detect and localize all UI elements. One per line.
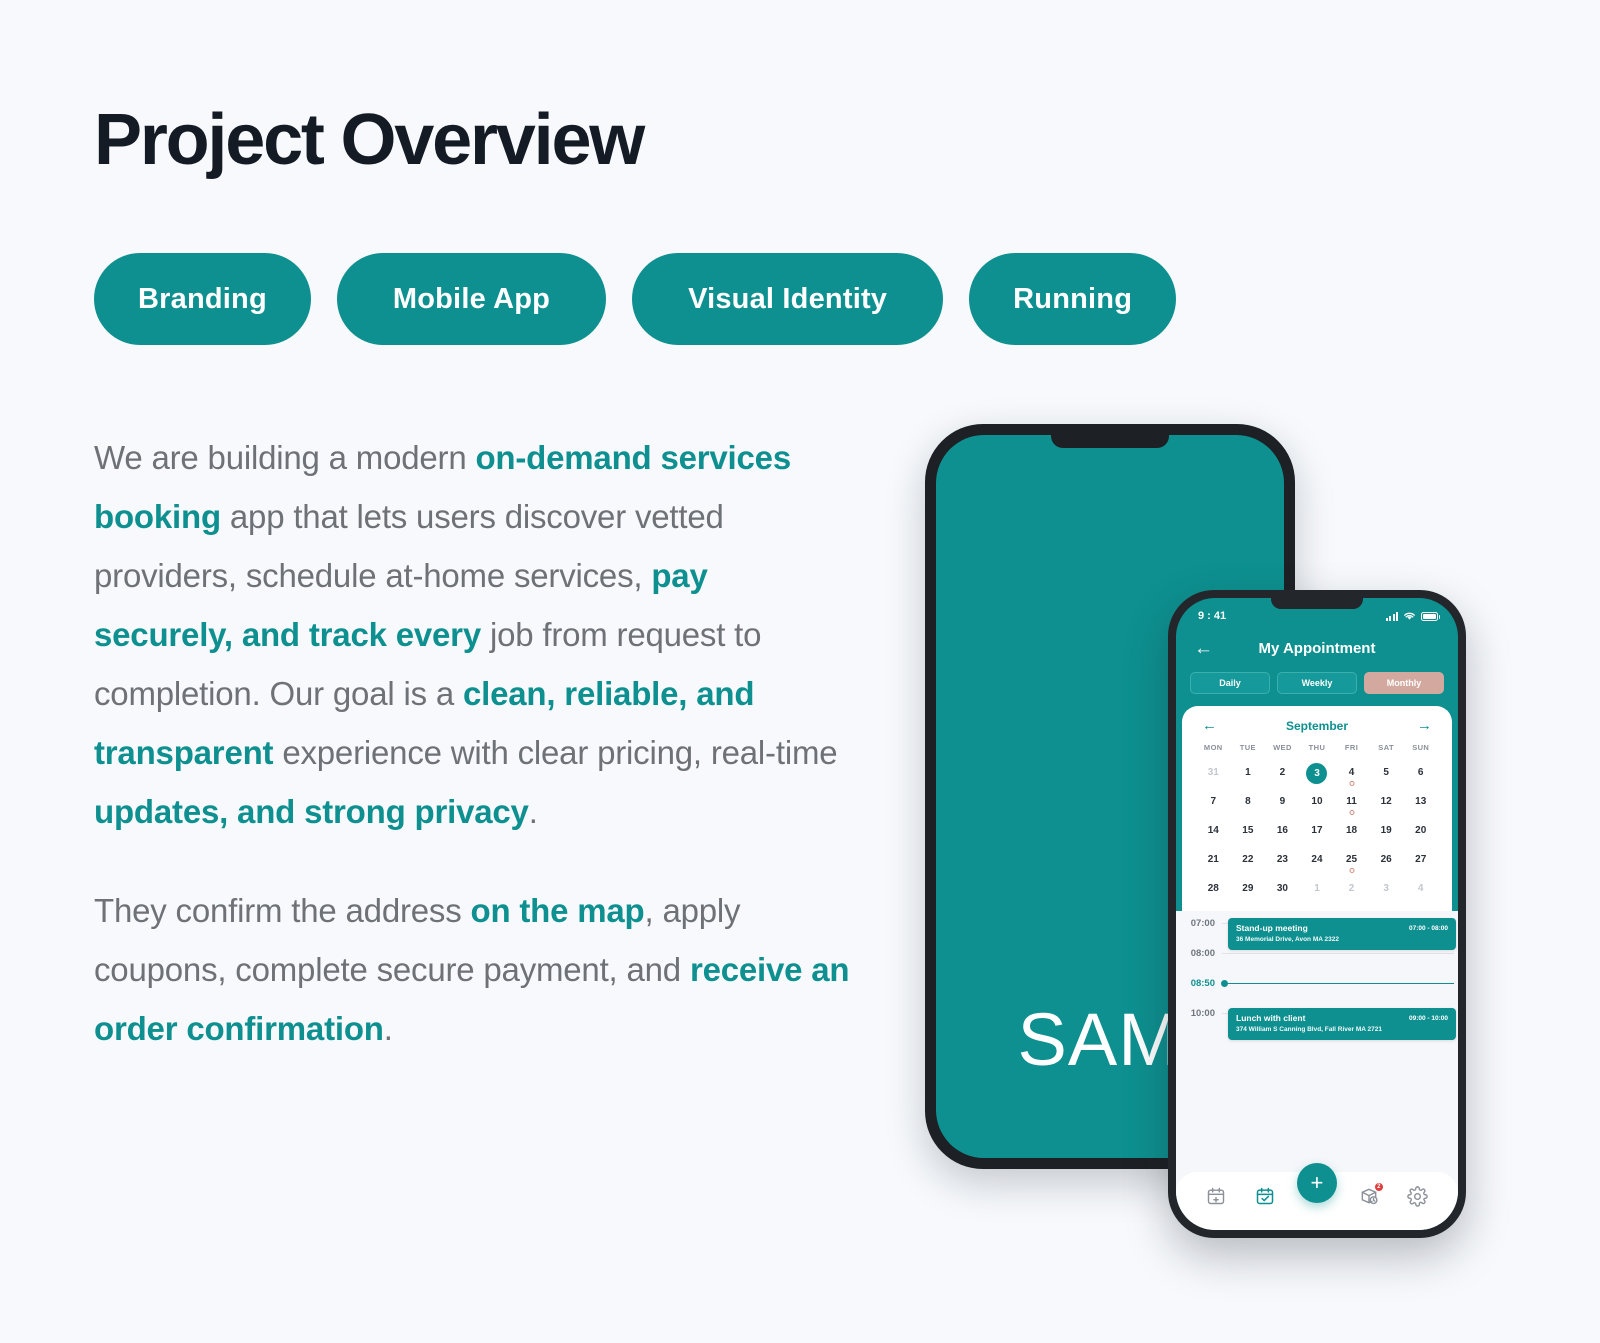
event-title: Stand-up meeting — [1236, 923, 1308, 933]
calendar-day-number: 4 — [1349, 767, 1355, 778]
wifi-icon — [1403, 611, 1416, 621]
body-copy: We are building a modern on-demand servi… — [94, 428, 854, 1058]
tag-pill-row: Branding Mobile App Visual Identity Runn… — [94, 253, 1176, 345]
calendar-day[interactable]: 3 — [1369, 879, 1404, 901]
calendar-day-number: 1 — [1314, 883, 1320, 894]
calendar-day[interactable]: 13 — [1403, 792, 1438, 814]
calendar-day-number: 16 — [1277, 825, 1288, 836]
calendar-day[interactable]: 21 — [1196, 850, 1231, 872]
event-row: Stand-up meeting 07:00 - 08:00 — [1236, 923, 1448, 933]
calendar-day[interactable]: 7 — [1196, 792, 1231, 814]
calendar-grid: MON TUE WED THU FRI SAT SUN 311234567891… — [1196, 743, 1438, 901]
calendar-day[interactable]: 24 — [1300, 850, 1335, 872]
calendar-day-number: 2 — [1349, 883, 1355, 894]
calendar-day-number: 22 — [1242, 854, 1253, 865]
time-slot-label: 08:50 — [1176, 978, 1222, 989]
event-address: 374 William S Canning Blvd, Fall River M… — [1236, 1026, 1448, 1033]
calendar-day-number: 3 — [1306, 763, 1327, 784]
calendar-day[interactable]: 10 — [1300, 792, 1335, 814]
calendar-day-number: 26 — [1381, 854, 1392, 865]
calendar-day-number: 29 — [1242, 883, 1253, 894]
calendar-day-number: 28 — [1208, 883, 1219, 894]
calendar-month-label: September — [1286, 719, 1348, 733]
calendar-day-number: 31 — [1208, 767, 1219, 778]
phone-device-front: 9 : 41 ← My Appointment Daily Weekly — [1168, 590, 1466, 1238]
weekday-label: SUN — [1403, 743, 1438, 756]
notification-badge: 2 — [1374, 1182, 1384, 1192]
calendar-add-icon[interactable] — [1199, 1179, 1233, 1213]
calendar-day-number: 14 — [1208, 825, 1219, 836]
weekday-label: MON — [1196, 743, 1231, 756]
calendar-day[interactable]: 19 — [1369, 821, 1404, 843]
calendar-day-number: 15 — [1242, 825, 1253, 836]
tag-pill-visual-identity[interactable]: Visual Identity — [632, 253, 943, 345]
calendar-day[interactable]: 22 — [1231, 850, 1266, 872]
phone-mockups: SAM. 9 : 41 ← My Appointm — [900, 400, 1600, 1300]
calendar-day-number: 5 — [1383, 767, 1389, 778]
tag-pill-running[interactable]: Running — [969, 253, 1176, 345]
calendar-day[interactable]: 12 — [1369, 792, 1404, 814]
calendar-day[interactable]: 1 — [1300, 879, 1335, 901]
calendar-day-number: 25 — [1346, 854, 1357, 865]
calendar-check-icon[interactable] — [1248, 1179, 1282, 1213]
cellular-signal-icon — [1386, 612, 1399, 621]
segment-monthly[interactable]: Monthly — [1364, 672, 1444, 694]
calendar-day[interactable]: 23 — [1265, 850, 1300, 872]
calendar-day-number: 4 — [1418, 883, 1424, 894]
arrow-left-icon[interactable]: ← — [1202, 718, 1217, 733]
tag-pill-branding[interactable]: Branding — [94, 253, 311, 345]
calendar-day[interactable]: 30 — [1265, 879, 1300, 901]
calendar-day-number: 12 — [1381, 796, 1392, 807]
phone-front-screen: 9 : 41 ← My Appointment Daily Weekly — [1176, 598, 1458, 1230]
calendar-header: ← September → — [1196, 718, 1438, 743]
calendar-day-number: 30 — [1277, 883, 1288, 894]
calendar-day-number: 8 — [1245, 796, 1251, 807]
package-clock-icon[interactable]: 2 — [1352, 1179, 1386, 1213]
battery-icon — [1421, 612, 1438, 621]
paragraph-1: We are building a modern on-demand servi… — [94, 428, 854, 841]
calendar-day-number: 7 — [1211, 796, 1217, 807]
paragraph-2: They confirm the address on the map, app… — [94, 881, 854, 1058]
status-time: 9 : 41 — [1198, 610, 1226, 622]
calendar-day[interactable]: 1 — [1231, 763, 1266, 785]
calendar-day[interactable]: 20 — [1403, 821, 1438, 843]
segment-daily[interactable]: Daily — [1190, 672, 1270, 694]
calendar-day-event-dot — [1349, 810, 1354, 815]
calendar-day-number: 13 — [1415, 796, 1426, 807]
calendar-day[interactable]: 27 — [1403, 850, 1438, 872]
calendar-day-number: 19 — [1381, 825, 1392, 836]
bottom-tab-bar: + 2 — [1176, 1172, 1458, 1230]
calendar-day[interactable]: 31 — [1196, 763, 1231, 785]
calendar-day[interactable]: 4 — [1334, 763, 1369, 785]
event-title: Lunch with client — [1236, 1013, 1305, 1023]
calendar-day-number: 9 — [1280, 796, 1286, 807]
page-title: Project Overview — [94, 104, 643, 176]
agenda-event-card[interactable]: Lunch with client 09:00 - 10:00 374 Will… — [1228, 1008, 1456, 1040]
app-header: ← My Appointment — [1176, 628, 1458, 662]
calendar-day[interactable]: 9 — [1265, 792, 1300, 814]
calendar-day-number: 18 — [1346, 825, 1357, 836]
calendar-day[interactable]: 17 — [1300, 821, 1335, 843]
calendar-day-number: 24 — [1311, 854, 1322, 865]
calendar-day[interactable]: 2 — [1334, 879, 1369, 901]
calendar-day-number: 1 — [1245, 767, 1251, 778]
calendar-day[interactable]: 5 — [1369, 763, 1404, 785]
event-time: 09:00 - 10:00 — [1409, 1015, 1448, 1022]
calendar-day-number: 6 — [1418, 767, 1424, 778]
event-address: 36 Memorial Drive, Avon MA 2322 — [1236, 936, 1448, 943]
time-slot-line — [1222, 953, 1454, 954]
time-slot-label: 10:00 — [1176, 1008, 1222, 1019]
weekday-label: SAT — [1369, 743, 1404, 756]
calendar-day[interactable]: 11 — [1334, 792, 1369, 814]
tag-pill-mobile-app[interactable]: Mobile App — [337, 253, 606, 345]
calendar-day-event-dot — [1349, 868, 1354, 873]
calendar-day-number: 27 — [1415, 854, 1426, 865]
calendar-day-number: 20 — [1415, 825, 1426, 836]
arrow-right-icon[interactable]: → — [1417, 718, 1432, 733]
status-icon-group — [1386, 611, 1439, 621]
calendar-day[interactable]: 29 — [1231, 879, 1266, 901]
current-time-line — [1222, 983, 1454, 984]
event-row: Lunch with client 09:00 - 10:00 — [1236, 1013, 1448, 1023]
weekday-label: WED — [1265, 743, 1300, 756]
calendar-day[interactable]: 15 — [1231, 821, 1266, 843]
calendar-day-number: 11 — [1346, 796, 1357, 807]
time-slot-label: 08:00 — [1176, 948, 1222, 959]
app-title: My Appointment — [1176, 640, 1458, 657]
add-appointment-fab[interactable]: + — [1297, 1163, 1337, 1203]
agenda-event-card[interactable]: Stand-up meeting 07:00 - 08:00 36 Memori… — [1228, 918, 1456, 950]
calendar-day-number: 2 — [1280, 767, 1286, 778]
calendar-day[interactable]: 8 — [1231, 792, 1266, 814]
back-arrow-icon[interactable]: ← — [1194, 639, 1213, 658]
calendar-card: ← September → MON TUE WED THU FRI SAT SU… — [1182, 706, 1452, 911]
view-mode-segmented-control: Daily Weekly Monthly — [1176, 662, 1458, 706]
notch-icon — [1271, 598, 1363, 609]
calendar-day[interactable]: 16 — [1265, 821, 1300, 843]
calendar-day-number: 17 — [1311, 825, 1322, 836]
segment-weekly[interactable]: Weekly — [1277, 672, 1357, 694]
calendar-day-selected[interactable]: 3 — [1300, 763, 1335, 785]
calendar-day[interactable]: 4 — [1403, 879, 1438, 901]
weekday-label: FRI — [1334, 743, 1369, 756]
calendar-day[interactable]: 2 — [1265, 763, 1300, 785]
calendar-day[interactable]: 14 — [1196, 821, 1231, 843]
calendar-day-number: 23 — [1277, 854, 1288, 865]
notch-icon — [1051, 435, 1169, 448]
time-slot-label: 07:00 — [1176, 918, 1222, 929]
calendar-day-number: 10 — [1311, 796, 1322, 807]
calendar-day[interactable]: 25 — [1334, 850, 1369, 872]
calendar-day-event-dot — [1349, 781, 1354, 786]
calendar-day-number: 21 — [1208, 854, 1219, 865]
gear-icon[interactable] — [1401, 1179, 1435, 1213]
weekday-label: TUE — [1231, 743, 1266, 756]
weekday-label: THU — [1300, 743, 1335, 756]
calendar-day-number: 3 — [1383, 883, 1389, 894]
event-time: 07:00 - 08:00 — [1409, 925, 1448, 932]
calendar-day[interactable]: 18 — [1334, 821, 1369, 843]
calendar-day[interactable]: 28 — [1196, 879, 1231, 901]
calendar-day[interactable]: 6 — [1403, 763, 1438, 785]
calendar-day[interactable]: 26 — [1369, 850, 1404, 872]
